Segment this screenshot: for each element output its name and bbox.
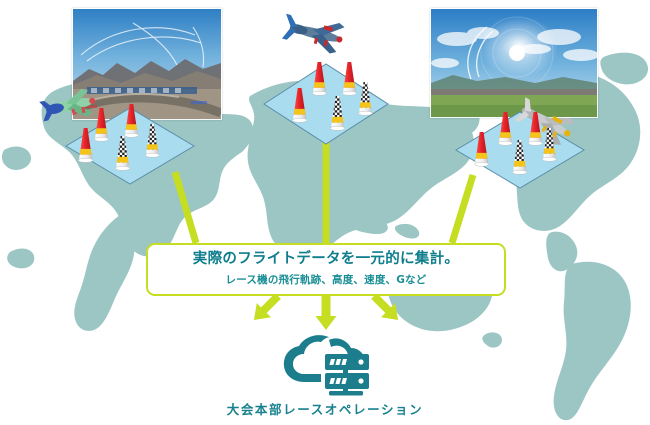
arrow-center: [316, 296, 337, 330]
diagram-canvas: 実際のフライトデータを一元的に集計。 レース機の飛行軌跡、高度、速度、Gなど: [0, 0, 650, 425]
hub-caption: 大会本部レースオペレーション: [0, 399, 650, 418]
callout-title: 実際のフライトデータを一元的に集計。: [193, 252, 459, 268]
callout-subtitle: レース機の飛行軌跡、高度、速度、Gなど: [226, 272, 427, 287]
aggregation-callout-box: 実際のフライトデータを一元的に集計。 レース機の飛行軌跡、高度、速度、Gなど: [146, 243, 506, 296]
cloud-server-icon: [281, 330, 373, 396]
